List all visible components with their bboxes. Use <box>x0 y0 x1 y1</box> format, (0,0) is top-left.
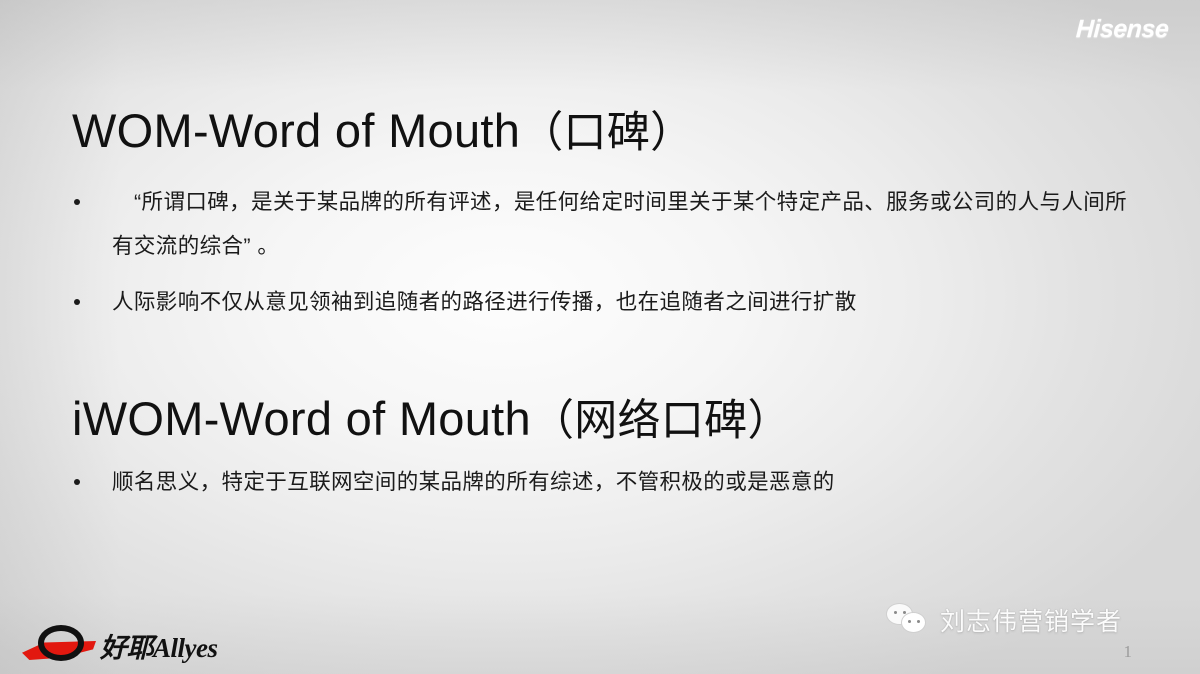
wechat-eye-icon <box>917 620 920 623</box>
bullet-dot-icon <box>74 479 80 485</box>
allyes-logo: 好耶Allyes <box>22 620 222 666</box>
list-item: 人际影响不仅从意见领袖到追随者的路径进行传播，也在追随者之间进行扩散 <box>0 280 1135 324</box>
list-item-text: 顺名思义，特定于互联网空间的某品牌的所有综述，不管积极的或是恶意的 <box>112 470 835 494</box>
allyes-mark-icon <box>22 624 96 662</box>
heading-iwom-cn: （网络口碑） <box>531 397 791 445</box>
wechat-icon <box>886 603 930 637</box>
wechat-bubble-small-icon <box>901 612 926 633</box>
allyes-wordmark: 好耶Allyes <box>100 626 218 665</box>
wechat-watermark: 刘志伟营销学者 <box>886 602 1122 638</box>
list-item: “所谓口碑，是关于某品牌的所有评述，是任何给定时间里关于某个特定产品、服务或公司… <box>0 180 1135 268</box>
allyes-wordmark-cn: 好耶 <box>100 633 153 663</box>
page-title-iwom: iWOM-Word of Mouth（网络口碑） <box>72 386 791 448</box>
hisense-logo: Hisense <box>1075 15 1169 44</box>
allyes-black-ring-icon <box>38 625 84 661</box>
wechat-eye-icon <box>908 620 911 623</box>
bullet-list-wom: “所谓口碑，是关于某品牌的所有评述，是任何给定时间里关于某个特定产品、服务或公司… <box>0 180 1200 336</box>
list-item-text: “所谓口碑，是关于某品牌的所有评述，是任何给定时间里关于某个特定产品、服务或公司… <box>112 180 1135 268</box>
slide-canvas: Hisense WOM-Word of Mouth（口碑） “所谓口碑，是关于某… <box>0 0 1200 674</box>
bullet-dot-icon <box>74 299 80 305</box>
wechat-eye-icon <box>894 611 897 614</box>
bullet-dot-icon <box>74 199 80 205</box>
page-number: 1 <box>1124 642 1133 662</box>
page-title-wom: WOM-Word of Mouth（口碑） <box>72 98 693 160</box>
heading-wom-cn: （口碑） <box>520 109 693 157</box>
heading-wom-en: WOM-Word of Mouth <box>72 104 520 157</box>
list-item: 顺名思义，特定于互联网空间的某品牌的所有综述，不管积极的或是恶意的 <box>0 460 1135 504</box>
heading-iwom-en: iWOM-Word of Mouth <box>72 392 531 445</box>
list-item-text: 人际影响不仅从意见领袖到追随者的路径进行传播，也在追随者之间进行扩散 <box>112 290 857 314</box>
allyes-wordmark-en: Allyes <box>153 633 218 663</box>
bullet-list-iwom: 顺名思义，特定于互联网空间的某品牌的所有综述，不管积极的或是恶意的 <box>0 460 1200 516</box>
wechat-account-name: 刘志伟营销学者 <box>940 602 1122 638</box>
